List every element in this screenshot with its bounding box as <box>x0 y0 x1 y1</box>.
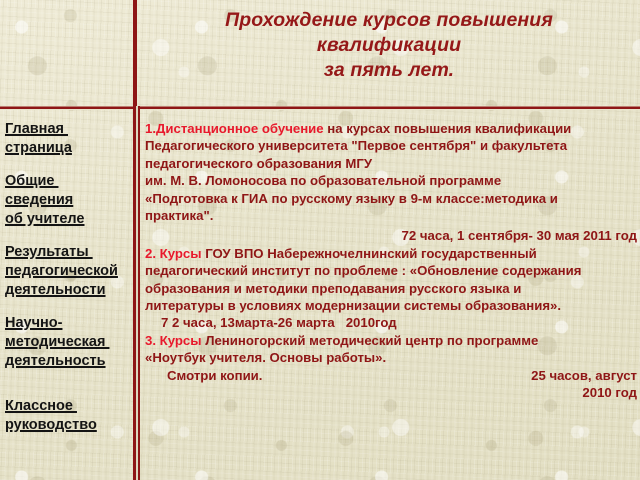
course-2-line-1-rest: ГОУ ВПО Набережночелнинский государствен… <box>202 246 537 261</box>
sidebar-item-label: деятельность <box>5 352 126 371</box>
course-1-line-2: Педагогического университета "Первое сен… <box>145 137 637 154</box>
course-2-hours: 7 2 часа, 13марта-26 марта 2010год <box>145 314 637 331</box>
course-list-body: 1.Дистанционное обучение на курсах повыш… <box>145 114 637 402</box>
course-entry-1: 1.Дистанционное обучение на курсах повыш… <box>145 120 637 245</box>
course-1-label: 1.Дистанционное обучение <box>145 121 324 136</box>
course-1-line-4: им. М. В. Ломоносова по образовательной … <box>145 172 637 189</box>
sidebar-item-label: страница <box>5 139 126 158</box>
sidebar-navigation: Главная страница Общие сведения об учите… <box>0 112 130 449</box>
sidebar-item-label: Научно- <box>5 314 126 333</box>
vertical-divider-rule <box>133 106 141 480</box>
sidebar-item-label: сведения <box>5 191 126 210</box>
sidebar-item-label: методическая <box>5 333 126 352</box>
sidebar-item-label: педагогической <box>5 262 126 281</box>
course-1-line-5: «Подготовка к ГИА по русскому языку в 9-… <box>145 190 637 207</box>
course-3-note-row: Смотри копии. 25 часов, август <box>145 367 637 384</box>
course-2-label: 2. Курсы <box>145 246 202 261</box>
course-3-line-2: «Ноутбук учителя. Основы работы». <box>145 349 637 366</box>
slide-canvas: Прохождение курсов повышения квалификаци… <box>0 0 640 480</box>
sidebar-item-label: Главная <box>5 120 126 139</box>
sidebar-item-class-management[interactable]: Классное руководство <box>5 397 126 435</box>
sidebar-item-pedagogical-results[interactable]: Результаты педагогической деятельности <box>5 243 126 300</box>
course-1-line-3: педагогического образования МГУ <box>145 155 637 172</box>
course-entry-2: 2. Курсы ГОУ ВПО Набережночелнинский гос… <box>145 245 637 332</box>
sidebar-item-scientific-methodical[interactable]: Научно- методическая деятельность <box>5 314 126 371</box>
course-3-label: 3. Курсы <box>145 333 202 348</box>
sidebar-item-label: Общие <box>5 172 126 191</box>
sidebar-item-label: Результаты <box>5 243 126 262</box>
course-1-line-1: 1.Дистанционное обучение на курсах повыш… <box>145 120 637 137</box>
horizontal-divider-rule <box>0 106 640 110</box>
course-2-line-4: литературы в условиях модернизации систе… <box>145 297 637 314</box>
course-2-line-3: образования и методики преподавания русс… <box>145 280 637 297</box>
course-2-line-2: педагогический институт по проблеме : «О… <box>145 262 637 279</box>
sidebar-item-label: деятельности <box>5 281 126 300</box>
title-line-1: Прохождение курсов повышения <box>145 8 633 33</box>
course-3-note: Смотри копии. <box>145 367 262 384</box>
sidebar-item-label: руководство <box>5 416 126 435</box>
title-line-2: квалификации <box>145 33 633 58</box>
course-1-line-1-rest: на курсах повышения квалификации <box>324 121 572 136</box>
course-3-hours-line-1: 25 часов, август <box>531 367 637 384</box>
course-3-line-1: 3. Курсы Лениногорский методический цент… <box>145 332 637 349</box>
slide-title: Прохождение курсов повышения квалификаци… <box>145 8 633 83</box>
course-1-hours: 72 часа, 1 сентября- 30 мая 2011 год <box>145 227 637 244</box>
course-2-line-1: 2. Курсы ГОУ ВПО Набережночелнинский гос… <box>145 245 637 262</box>
course-1-line-6: практика". <box>145 207 637 224</box>
sidebar-item-main-page[interactable]: Главная страница <box>5 120 126 158</box>
vertical-divider-rule-top <box>133 0 141 108</box>
sidebar-item-label: Классное <box>5 397 126 416</box>
title-line-3: за пять лет. <box>145 58 633 83</box>
sidebar-item-about-teacher[interactable]: Общие сведения об учителе <box>5 172 126 229</box>
course-entry-3: 3. Курсы Лениногорский методический цент… <box>145 332 637 402</box>
course-3-line-1-rest: Лениногорский методический центр по прог… <box>202 333 539 348</box>
sidebar-item-label: об учителе <box>5 210 126 229</box>
course-3-hours-line-2: 2010 год <box>145 384 637 401</box>
